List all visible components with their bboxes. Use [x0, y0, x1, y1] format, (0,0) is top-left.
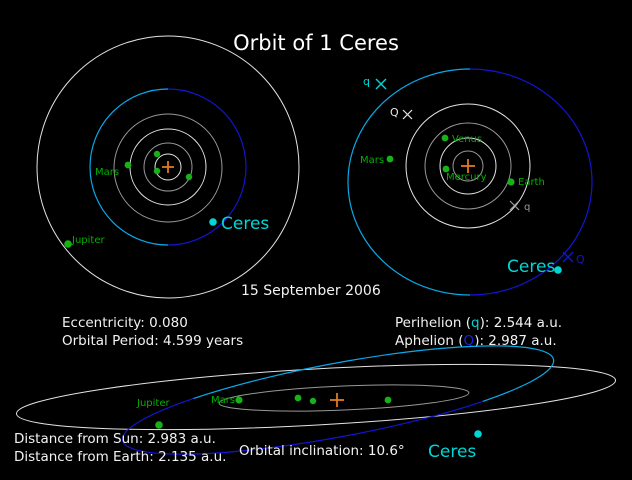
- mars-dot: [125, 162, 132, 169]
- earth-label-right: Earth: [518, 177, 545, 188]
- mercury-label-right: Mercury: [446, 172, 487, 183]
- mars-label: Mars: [95, 167, 119, 178]
- jupiter-label-edge-on: Jupiter: [136, 398, 170, 409]
- ceres-perihelion-label: q: [363, 75, 370, 88]
- venus-dot-right: [442, 135, 449, 142]
- page-title: Orbit of 1 Ceres: [233, 31, 399, 55]
- orbital-period-text: Orbital Period: 4.599 years: [62, 333, 243, 349]
- mars-orbit-edge-on: [219, 381, 470, 415]
- ceres-dot: [209, 218, 217, 226]
- earth-dot-right: [507, 178, 514, 185]
- mercury-dot: [186, 174, 192, 180]
- mars-dot-edge-on: [235, 396, 242, 403]
- eccentricity-text: Eccentricity: 0.080: [62, 315, 188, 331]
- jupiter-dot-edge-on: [155, 421, 163, 429]
- perihelion-prefix: Perihelion (: [395, 315, 471, 331]
- sun-marker-right: [461, 159, 475, 173]
- mercury-dot-edge-on: [385, 397, 392, 404]
- earth-dot-edge-on: [295, 395, 302, 402]
- jupiter-label: Jupiter: [71, 235, 105, 246]
- orbit-diagram-canvas: Orbit of 1 Ceres: [0, 0, 632, 480]
- orbital-inclination-text: Orbital inclination: 10.6°: [239, 443, 405, 459]
- panel-right-inner-system: Mars Venus Mercury Earth Ceres q Q Q: [348, 69, 592, 295]
- earth-dot: [154, 151, 160, 157]
- perihelion-symbol: q: [471, 315, 480, 331]
- ceres-aphelion-marker: [563, 252, 573, 262]
- venus-dot: [154, 168, 160, 174]
- panel-left-outer-system: Mars Jupiter Ceres: [37, 36, 299, 298]
- mars-perihelion-label: q: [524, 202, 530, 213]
- ceres-dot-edge-on: [474, 430, 482, 438]
- date-text: 15 September 2006: [241, 283, 381, 299]
- ceres-dot-right: [554, 266, 562, 274]
- venus-dot-edge-on: [310, 398, 316, 404]
- perihelion-suffix: ): 2.544 a.u.: [480, 315, 562, 331]
- distance-from-earth-text: Distance from Earth: 2.135 a.u.: [14, 449, 226, 465]
- mars-dot-right: [387, 156, 394, 163]
- mars-perihelion-marker: [510, 201, 519, 210]
- ceres-label-edge-on: Ceres: [428, 442, 476, 462]
- jupiter-dot: [64, 240, 72, 248]
- mars-aphelion-marker: [403, 110, 412, 119]
- sun-marker-edge-on: [330, 393, 344, 407]
- distance-from-sun-text: Distance from Sun: 2.983 a.u.: [14, 431, 216, 447]
- sun-marker: [162, 161, 174, 173]
- ceres-label: Ceres: [221, 214, 269, 234]
- mars-aphelion-label: Q: [390, 106, 399, 119]
- orbit-diagram-page: Orbit of 1 Ceres: [0, 0, 632, 480]
- ceres-aphelion-label: Q: [576, 253, 585, 266]
- mars-label-right: Mars: [360, 155, 384, 166]
- ceres-perihelion-marker: [376, 79, 386, 89]
- jupiter-orbit-edge-on: [15, 352, 617, 441]
- mars-label-edge-on: Mars: [211, 395, 235, 406]
- venus-label-right: Venus: [452, 134, 482, 145]
- ceres-label-right: Ceres: [507, 257, 555, 277]
- aphelion-prefix: Aphelion (: [395, 333, 464, 349]
- perihelion-text: Perihelion (q): 2.544 a.u.: [395, 315, 562, 331]
